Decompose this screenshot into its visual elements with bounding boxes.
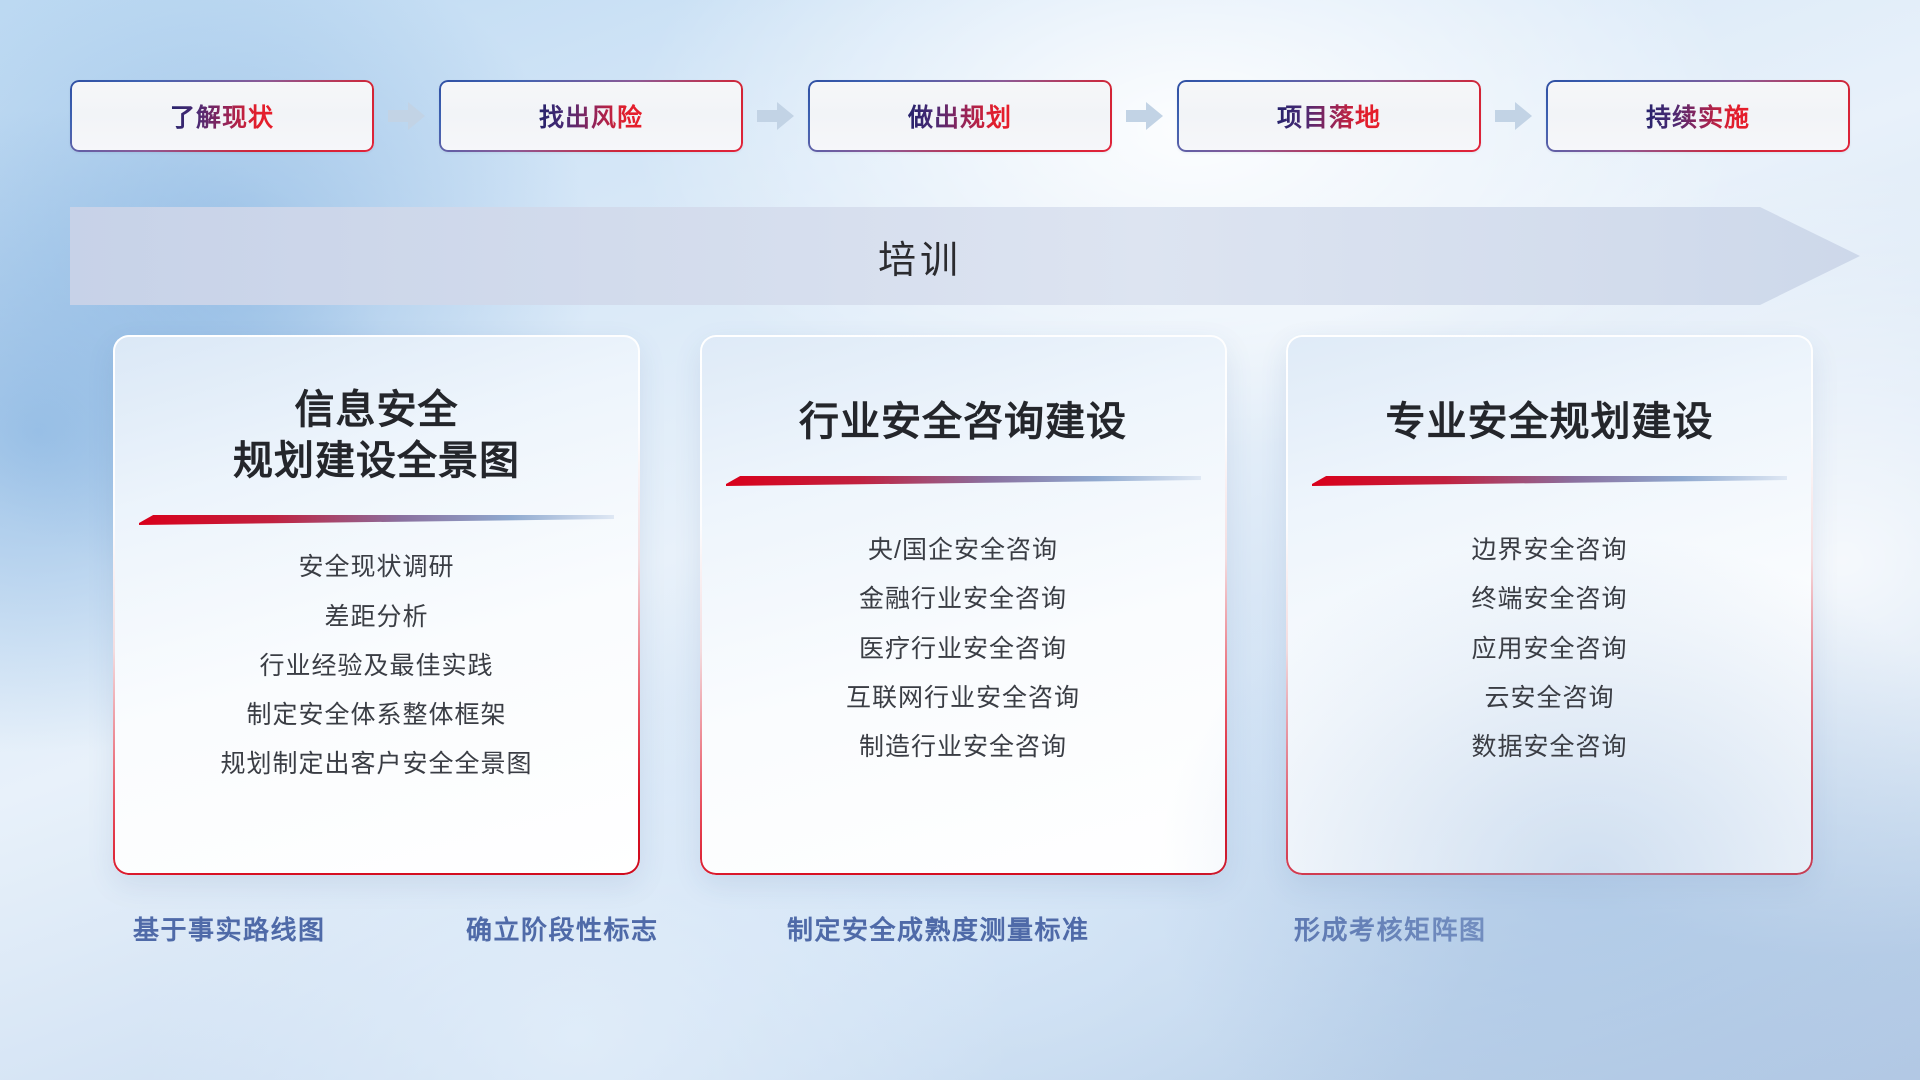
list-item: 差距分析: [324, 602, 428, 633]
list-item: 云安全咨询: [1484, 683, 1614, 714]
step-chip-5[interactable]: 持续实施: [1546, 80, 1850, 152]
arrow-right-icon: [757, 99, 795, 133]
arrow-right-icon: [1495, 99, 1533, 133]
card-item-list: 边界安全咨询 终端安全咨询 应用安全咨询 云安全咨询 数据安全咨询: [1312, 535, 1787, 763]
card-industry-consulting[interactable]: 行业安全咨询建设 央/国企安全咨询: [700, 335, 1227, 875]
list-item: 制定安全体系整体框架: [246, 700, 506, 731]
caption-label: 确立阶段性标志: [466, 910, 659, 947]
list-item: 金融行业安全咨询: [859, 584, 1067, 615]
list-item: 安全现状调研: [298, 552, 454, 583]
arrow-right-icon: [388, 99, 426, 133]
title-divider: [139, 513, 614, 526]
banner-title: 培训: [70, 207, 1770, 305]
list-item: 互联网行业安全咨询: [846, 683, 1080, 714]
step-chip-1[interactable]: 了解现状: [70, 80, 374, 152]
step-chip-label: 了解现状: [170, 98, 274, 134]
step-chip-label: 持续实施: [1646, 98, 1750, 134]
card-title-line: 专业安全规划建设: [1386, 397, 1714, 448]
card-title-line: 信息安全: [233, 385, 520, 436]
step-chip-2[interactable]: 找出风险: [439, 80, 743, 152]
caption-label: 基于事实路线图: [133, 910, 326, 947]
card-item-list: 安全现状调研 差距分析 行业经验及最佳实践 制定安全体系整体框架 规划制定出客户…: [139, 552, 614, 780]
card-title-line: 规划建设全景图: [233, 436, 520, 487]
card-group: 信息安全 规划建设全景图: [113, 335, 1813, 875]
title-divider: [1312, 474, 1787, 487]
list-item: 数据安全咨询: [1471, 732, 1627, 763]
step-chip-label: 项目落地: [1277, 98, 1381, 134]
card-title-line: 行业安全咨询建设: [799, 397, 1127, 448]
training-banner: 培训: [70, 207, 1860, 305]
process-step-bar: 了解现状 找出风险 做出规划 项目落地 持续实施: [70, 78, 1850, 154]
card-item-list: 央/国企安全咨询 金融行业安全咨询 医疗行业安全咨询 互联网行业安全咨询 制造行…: [726, 535, 1201, 763]
list-item: 制造行业安全咨询: [859, 732, 1067, 763]
list-item: 应用安全咨询: [1471, 634, 1627, 665]
list-item: 医疗行业安全咨询: [859, 634, 1067, 665]
caption-label: 制定安全成熟度测量标准: [787, 910, 1090, 947]
title-divider: [726, 474, 1201, 487]
card-title: 信息安全 规划建设全景图: [233, 385, 520, 487]
card-title: 专业安全规划建设: [1386, 397, 1714, 448]
list-item: 边界安全咨询: [1471, 535, 1627, 566]
caption-row: 基于事实路线图 确立阶段性标志 制定安全成熟度测量标准 形成考核矩阵图: [0, 910, 1920, 962]
list-item: 规划制定出客户安全全景图: [220, 749, 532, 780]
card-panorama[interactable]: 信息安全 规划建设全景图: [113, 335, 640, 875]
step-chip-3[interactable]: 做出规划: [808, 80, 1112, 152]
card-title: 行业安全咨询建设: [799, 397, 1127, 448]
list-item: 央/国企安全咨询: [868, 535, 1058, 566]
step-chip-4[interactable]: 项目落地: [1177, 80, 1481, 152]
arrow-right-icon: [1126, 99, 1164, 133]
list-item: 终端安全咨询: [1471, 584, 1627, 615]
step-chip-label: 做出规划: [908, 98, 1012, 134]
list-item: 行业经验及最佳实践: [259, 651, 493, 682]
caption-label: 形成考核矩阵图: [1294, 910, 1487, 947]
step-chip-label: 找出风险: [539, 98, 643, 134]
slide-canvas: 了解现状 找出风险 做出规划 项目落地 持续实施: [0, 0, 1920, 1080]
card-professional-planning[interactable]: 专业安全规划建设 边界安全咨询: [1286, 335, 1813, 875]
